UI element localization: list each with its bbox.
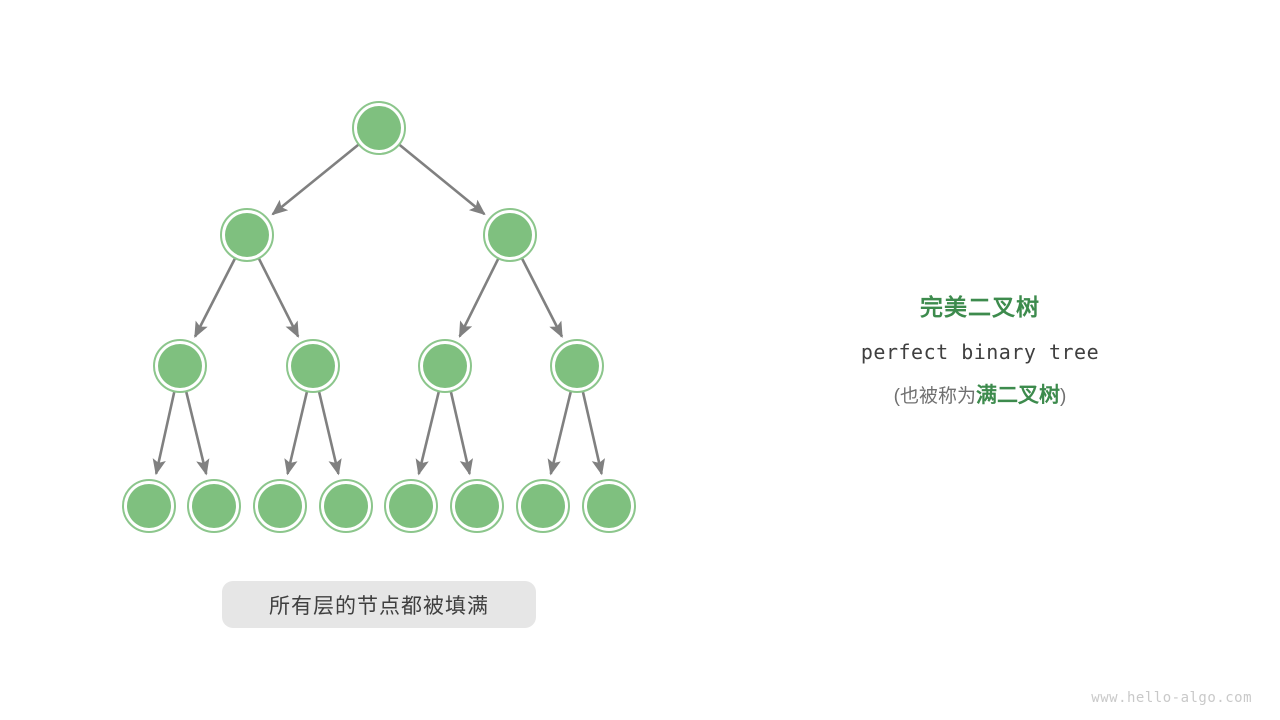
caption-alias: (也被称为满二叉树) [760,382,1200,411]
tree-node-fill [455,484,499,528]
pill-label: 所有层的节点都被填满 [222,581,536,628]
tree-edge [451,391,470,473]
tree-node[interactable] [188,480,240,532]
tree-node-fill [488,213,532,257]
caption-alias-prefix: (也被称为 [894,386,976,407]
tree-node[interactable] [287,340,339,392]
tree-edge-layer [156,144,602,474]
pill-label-text: 所有层的节点都被填满 [269,590,489,620]
tree-node-fill [357,106,401,150]
tree-node-layer [123,102,635,532]
diagram-canvas: 完美二叉树 perfect binary tree (也被称为满二叉树) 所有层… [0,0,1280,720]
tree-node[interactable] [484,209,536,261]
tree-edge [273,144,359,214]
tree-node[interactable] [254,480,306,532]
tree-edge [186,391,206,474]
tree-edge [399,144,484,214]
tree-node[interactable] [551,340,603,392]
tree-edge [522,258,562,336]
tree-node-fill [389,484,433,528]
tree-node[interactable] [123,480,175,532]
tree-edge [259,258,298,336]
tree-node[interactable] [385,480,437,532]
caption-alias-highlight: 满二叉树 [976,384,1060,407]
watermark: www.hello-algo.com [1091,690,1252,706]
caption-alias-suffix: ) [1060,386,1066,407]
tree-edge [583,391,602,473]
tree-node-fill [587,484,631,528]
tree-node[interactable] [451,480,503,532]
tree-edge [288,391,307,474]
tree-edge [460,258,499,336]
tree-node-fill [158,344,202,388]
tree-edge [551,391,571,474]
tree-edge [156,391,174,473]
tree-node[interactable] [419,340,471,392]
caption-title: 完美二叉树 [760,292,1200,322]
tree-node[interactable] [583,480,635,532]
tree-node[interactable] [221,209,273,261]
tree-node[interactable] [517,480,569,532]
tree-edge [195,258,235,336]
tree-node-fill [555,344,599,388]
tree-edge [319,391,338,474]
tree-node-fill [192,484,236,528]
tree-node-fill [258,484,302,528]
caption-subtitle: perfect binary tree [760,338,1200,366]
tree-node-fill [521,484,565,528]
tree-node[interactable] [154,340,206,392]
tree-node-fill [423,344,467,388]
caption-block: 完美二叉树 perfect binary tree (也被称为满二叉树) [760,292,1200,411]
tree-node-fill [127,484,171,528]
tree-edge [419,391,439,474]
tree-node[interactable] [353,102,405,154]
tree-node[interactable] [320,480,372,532]
tree-node-fill [225,213,269,257]
tree-node-fill [291,344,335,388]
tree-node-fill [324,484,368,528]
